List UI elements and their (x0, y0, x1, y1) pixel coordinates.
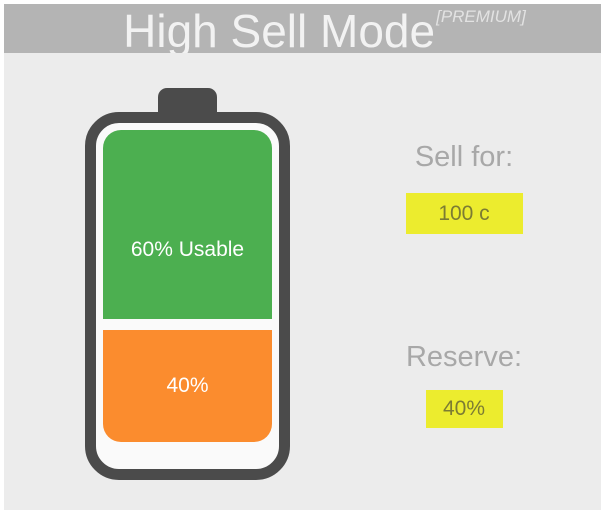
header-bar: High Sell Mode [PREMIUM] (4, 4, 601, 53)
sell-for-block: Sell for: 100 c (360, 140, 580, 234)
reserve-value[interactable]: 40% (426, 390, 503, 428)
high-sell-mode-panel: High Sell Mode [PREMIUM] 60% Usable 40% … (0, 0, 605, 514)
reserve-value-row: 40% (354, 374, 574, 428)
battery-segment-reserve: 40% (103, 330, 272, 442)
battery-segment-usable: 60% Usable (103, 130, 272, 319)
battery-segment-divider (103, 319, 272, 330)
reserve-label: Reserve: (354, 340, 574, 374)
page-title: High Sell Mode (123, 4, 435, 53)
sell-for-value-row: 100 c (354, 174, 574, 234)
battery-usable-label: 60% Usable (131, 238, 244, 262)
header-title-group: High Sell Mode [PREMIUM] (123, 4, 526, 53)
sell-for-label: Sell for: (354, 140, 574, 174)
battery-graphic: 60% Usable 40% (85, 88, 290, 480)
battery-reserve-label: 40% (166, 374, 208, 398)
reserve-block: Reserve: 40% (360, 340, 580, 428)
premium-badge: [PREMIUM] (436, 6, 526, 28)
sell-for-value[interactable]: 100 c (406, 193, 523, 234)
battery-fill-area: 60% Usable 40% (103, 130, 272, 462)
